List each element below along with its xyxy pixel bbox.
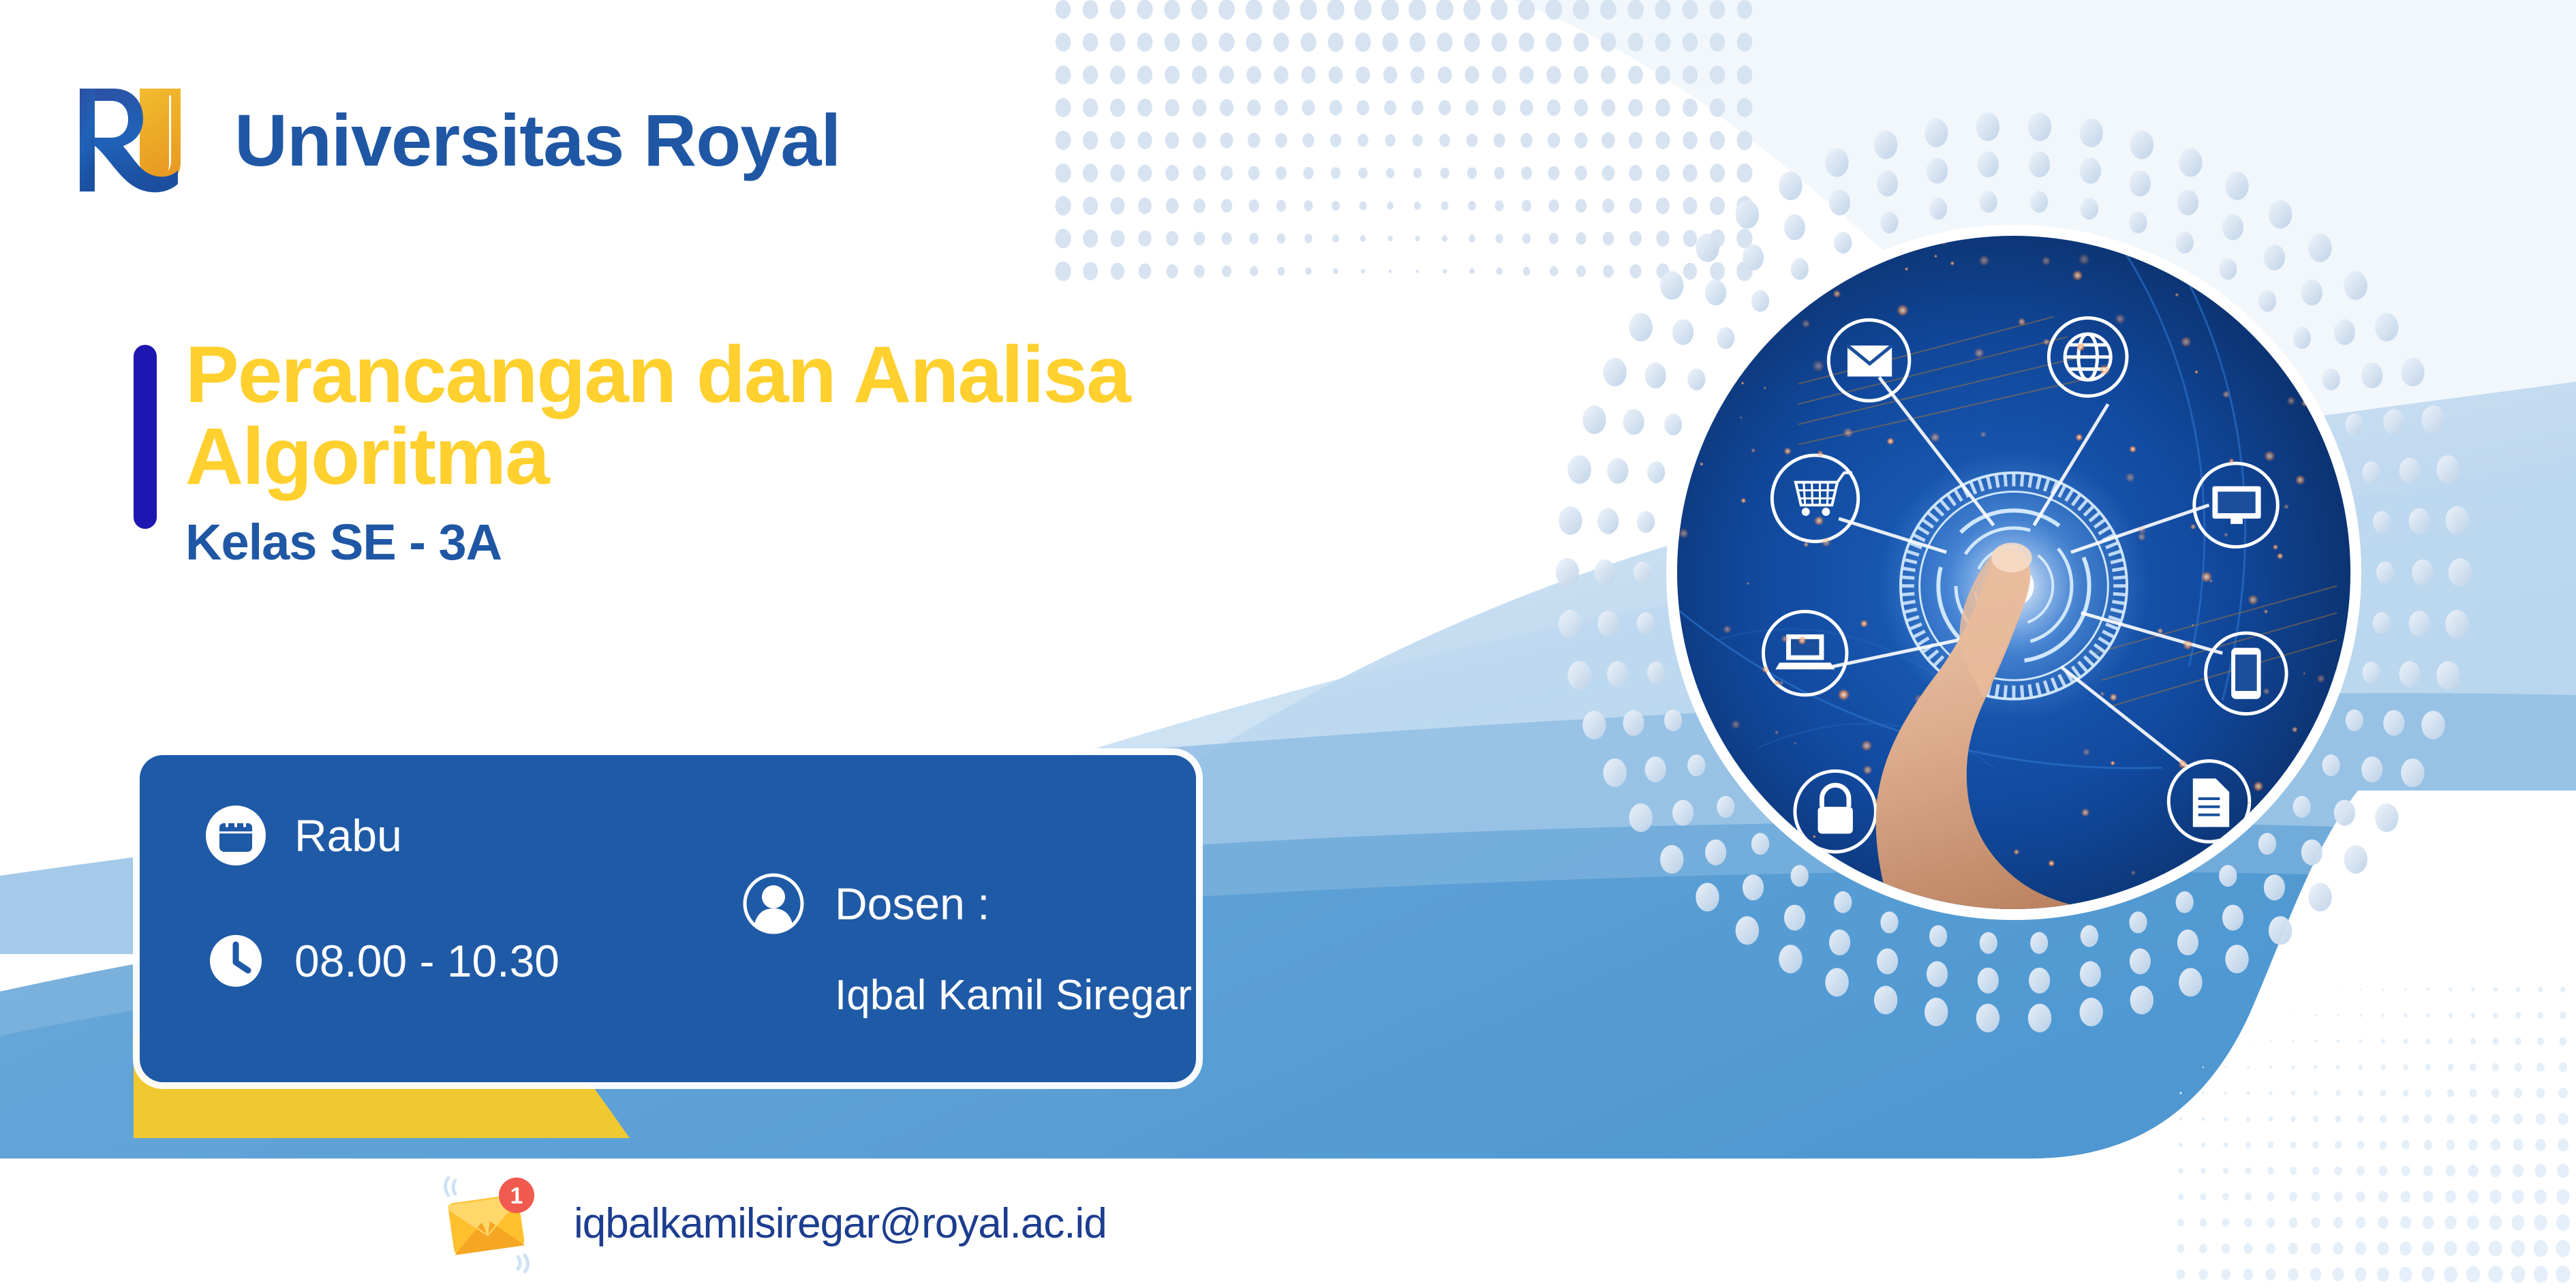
ru-monogram-icon [65,80,211,200]
lecturer-row: Dosen : [739,870,1192,938]
brand-logo: Universitas Royal [65,80,840,200]
lecturer-name: Iqbal Kamil Siregar [835,975,1192,1017]
schedule-time-value: 08.00 - 10.30 [294,938,559,983]
lecturer-label: Dosen : [835,881,990,926]
contact-email[interactable]: iqbalkamilsiregar@royal.ac.id [574,1199,1107,1248]
title-accent-bar [134,345,157,529]
page-title: Perancangan dan Analisa Algoritma [185,334,1130,498]
envelope-notification-icon: 1 [436,1172,545,1274]
contact-email-row[interactable]: 1 iqbalkamilsiregar@royal.ac.id [436,1172,1107,1274]
brand-name: Universitas Royal [234,104,840,177]
schedule-time-row: 08.00 - 10.30 [204,930,559,992]
person-icon [739,870,808,938]
calendar-icon [204,804,267,867]
hero-title-block: Perancangan dan Analisa Algoritma Kelas … [134,334,1130,568]
clock-icon [204,930,267,992]
schedule-day-value: Rabu [294,813,402,858]
banner-canvas: Universitas Royal Perancangan dan Analis… [0,0,2576,1288]
class-label: Kelas SE - 3A [185,517,1130,568]
schedule-day-row: Rabu [204,804,559,867]
badge-count: 1 [510,1183,523,1209]
schedule-card: Rabu 08.00 - 10.30 [140,755,1196,1082]
tech-network-photo [1666,225,2361,920]
